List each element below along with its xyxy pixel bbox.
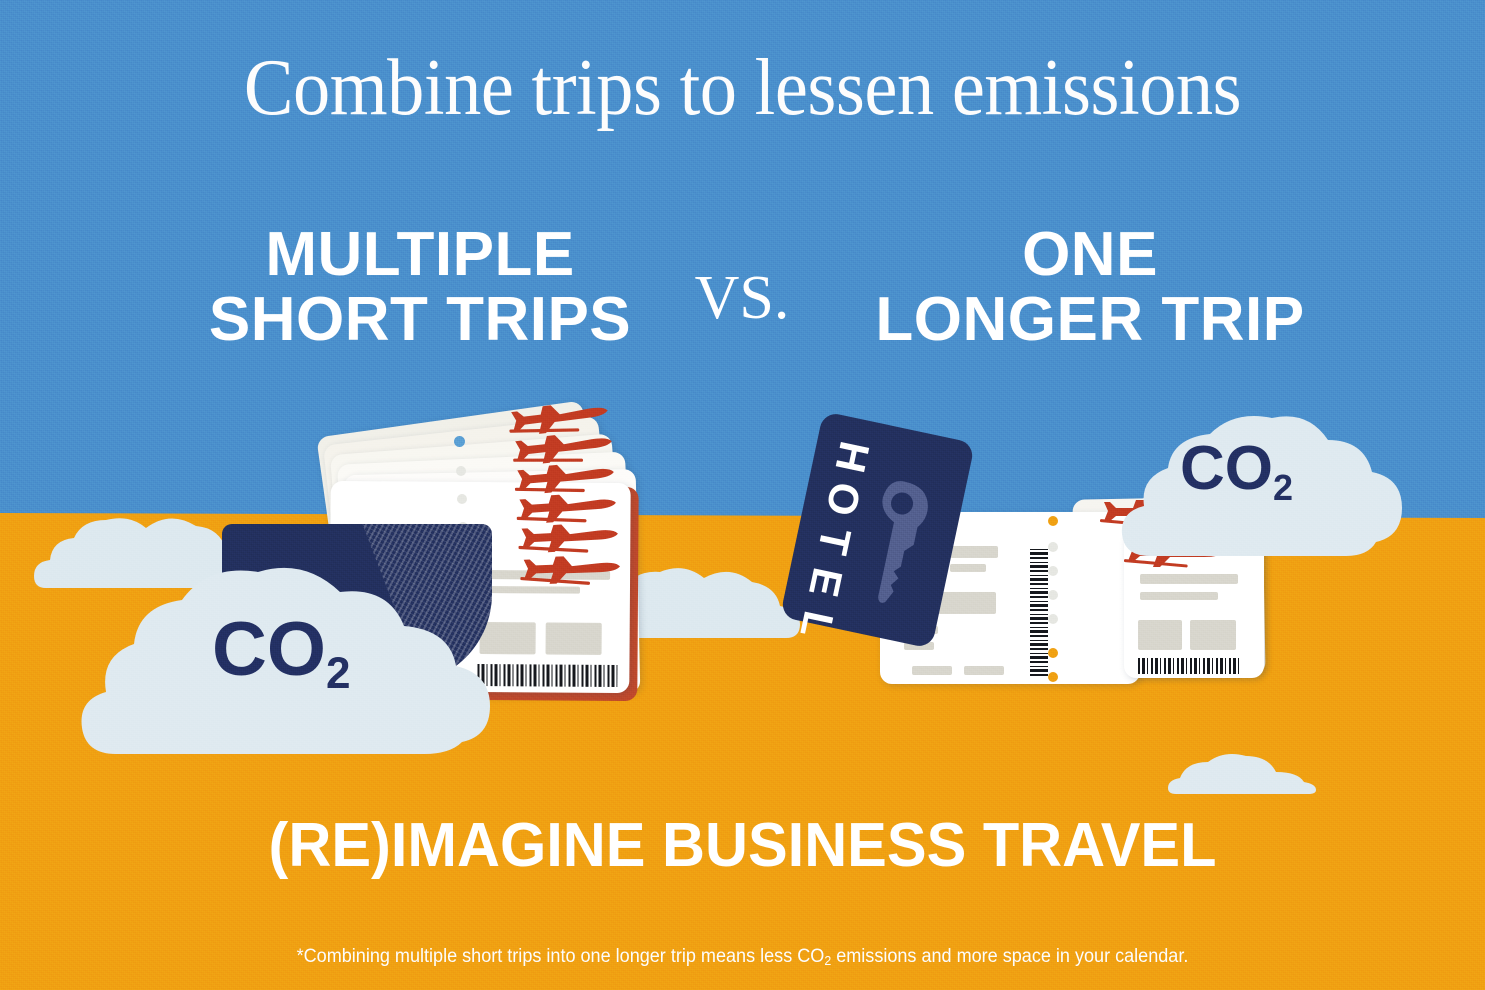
receipt-perforation-dot — [1048, 542, 1058, 552]
foreground-cloud-bottom-right — [1168, 750, 1318, 800]
pass-perforation-dot — [457, 494, 467, 504]
receipt-perforation-dot — [1048, 614, 1058, 624]
pass-perforation-dot — [454, 436, 465, 447]
hotel-letter-l: L — [790, 598, 841, 652]
co2-main-left: CO — [212, 607, 326, 692]
infographic-canvas: CO2 H O — [0, 0, 1485, 990]
footnote: *Combining multiple short trips into one… — [37, 946, 1448, 968]
left-heading-line-1: MULTIPLE — [170, 222, 670, 287]
co2-main-right: CO — [1180, 434, 1273, 503]
receipt-line-8 — [964, 666, 1004, 675]
footnote-subscript: 2 — [824, 953, 831, 968]
receipt-perforation-dot — [1048, 648, 1058, 658]
bottom-headline: (RE)IMAGINE BUSINESS TRAVEL — [30, 810, 1456, 881]
right-option-heading: ONE LONGER TRIP — [830, 222, 1350, 352]
receipt-perforation-dot — [1048, 516, 1058, 526]
receipt-line-7 — [912, 666, 952, 675]
pass-field-box-2 — [546, 622, 602, 654]
right-pass-barcode — [1138, 658, 1240, 674]
co2-label-left: CO2 — [212, 612, 351, 696]
page-title: Combine trips to lessen emissions — [52, 48, 1433, 128]
footnote-suffix: emissions and more space in your calenda… — [831, 946, 1188, 967]
co2-label-right: CO2 — [1180, 438, 1293, 506]
co2-sub-right: 2 — [1273, 467, 1293, 508]
co2-sub-left: 2 — [326, 649, 351, 698]
receipt-perforation-dot — [1048, 672, 1058, 682]
right-pass-line-2 — [1140, 592, 1218, 600]
left-heading-line-2: SHORT TRIPS — [170, 287, 670, 352]
receipt-perforation-dot — [1048, 566, 1058, 576]
receipt-line-4 — [950, 564, 986, 572]
pass-perforation-dot — [456, 466, 466, 476]
receipt-line-2 — [950, 546, 998, 558]
versus-label: VS. — [682, 263, 802, 334]
right-pass-box-2 — [1190, 620, 1236, 650]
receipt-perforation-dot — [1048, 590, 1058, 600]
airplane-icon — [519, 548, 628, 588]
right-pass-line-1 — [1140, 574, 1238, 584]
footnote-prefix: *Combining multiple short trips into one… — [297, 946, 825, 967]
receipt-barcode — [1030, 548, 1048, 676]
right-heading-line-2: LONGER TRIP — [830, 287, 1350, 352]
right-heading-line-1: ONE — [830, 222, 1350, 287]
right-pass-box-1 — [1138, 620, 1182, 650]
left-option-heading: MULTIPLE SHORT TRIPS — [170, 222, 670, 352]
